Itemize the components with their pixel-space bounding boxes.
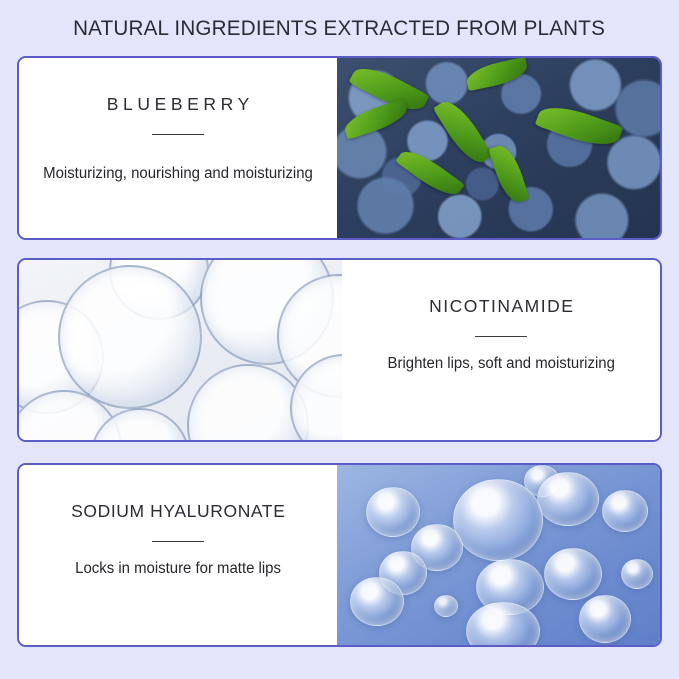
- ingredient-name: BLUEBERRY: [102, 96, 254, 114]
- ingredient-name: NICOTINAMIDE: [428, 298, 575, 316]
- card-text-pane: SODIUM HYALURONATE Locks in moisture for…: [19, 465, 337, 645]
- ingredient-infographic: NATURAL INGREDIENTS EXTRACTED FROM PLANT…: [0, 0, 679, 679]
- card-media-pane: [337, 465, 660, 645]
- divider-rule: [152, 541, 204, 543]
- ingredient-card-blueberry: BLUEBERRY Moisturizing, nourishing and m…: [17, 56, 662, 240]
- page-title: NATURAL INGREDIENTS EXTRACTED FROM PLANT…: [74, 16, 606, 41]
- bubble-shape: [58, 265, 202, 409]
- leaf-icon: [342, 99, 412, 140]
- droplet-shape: [621, 559, 653, 589]
- droplet-shape: [602, 490, 648, 532]
- droplet-shape: [544, 548, 602, 600]
- droplet-shape: [579, 595, 631, 643]
- ingredient-name: SODIUM HYALURONATE: [71, 503, 286, 521]
- ingredient-description: Brighten lips, soft and moisturizing: [387, 356, 614, 373]
- clear-bubbles-photo: [19, 260, 342, 440]
- leaf-icon: [465, 58, 530, 92]
- droplet-shape: [453, 479, 543, 561]
- card-text-pane: NICOTINAMIDE Brighten lips, soft and moi…: [342, 260, 660, 440]
- droplet-shape: [366, 487, 420, 537]
- leaf-icon: [395, 144, 465, 203]
- leaf-icon: [535, 98, 624, 153]
- droplet-shape: [537, 472, 599, 526]
- ingredient-description: Moisturizing, nourishing and moisturizin…: [17, 166, 343, 183]
- ingredient-card-nicotinamide: NICOTINAMIDE Brighten lips, soft and moi…: [17, 258, 662, 442]
- blueberries-photo: [337, 58, 660, 238]
- ingredient-description: Locks in moisture for matte lips: [75, 561, 281, 578]
- divider-rule: [475, 336, 527, 338]
- card-media-pane: [19, 260, 342, 440]
- leaf-icon: [488, 142, 529, 206]
- droplet-shape: [434, 595, 458, 617]
- blue-water-droplets-photo: [337, 465, 660, 645]
- leaf-icon: [433, 95, 493, 170]
- droplet-shape: [350, 577, 404, 626]
- card-media-pane: [337, 58, 660, 238]
- ingredient-card-sodium-hyaluronate: SODIUM HYALURONATE Locks in moisture for…: [17, 463, 662, 647]
- card-text-pane: BLUEBERRY Moisturizing, nourishing and m…: [19, 58, 337, 238]
- divider-rule: [152, 134, 204, 136]
- banner: NATURAL INGREDIENTS EXTRACTED FROM PLANT…: [0, 0, 679, 56]
